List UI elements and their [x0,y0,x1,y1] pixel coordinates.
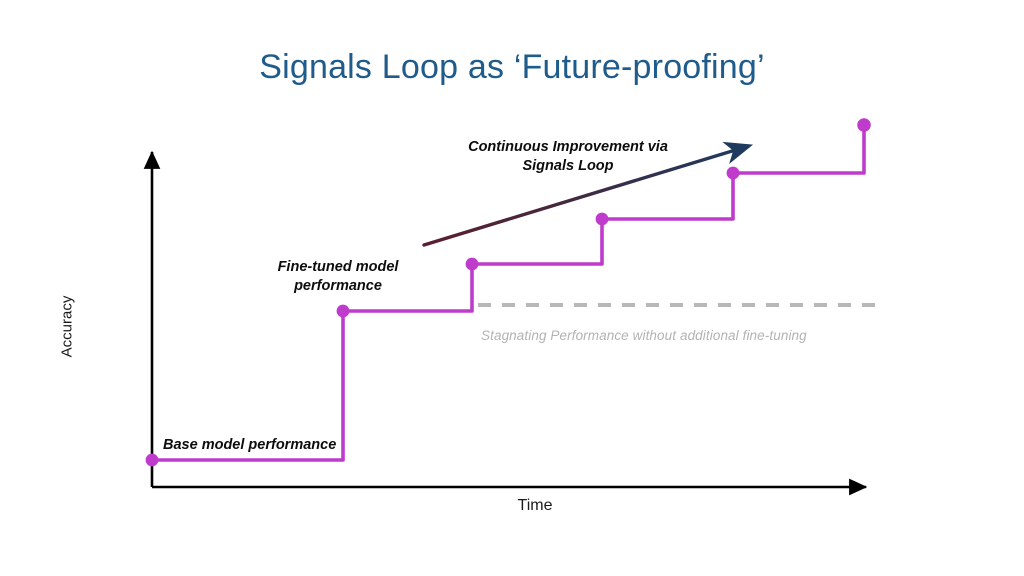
annotation-fine-tuned-performance: Fine-tuned model performance [272,258,404,295]
data-point-marker [337,305,350,318]
accuracy-step-line [152,125,864,460]
annotation-stagnating-performance: Stagnating Performance without additiona… [481,327,807,344]
data-point-marker [727,167,740,180]
data-point-marker [466,258,479,271]
annotation-base-performance: Base model performance [163,436,336,455]
data-point-marker [146,454,159,467]
chart-graphic [0,0,1024,576]
data-point-marker [857,118,871,132]
annotation-continuous-improvement: Continuous Improvement via Signals Loop [462,138,674,175]
x-axis-label: Time [457,497,613,515]
data-point-marker [596,213,609,226]
slide-canvas: Signals Loop as ‘Future-proofing’ [0,0,1024,576]
y-axis-label: Accuracy [59,247,76,407]
